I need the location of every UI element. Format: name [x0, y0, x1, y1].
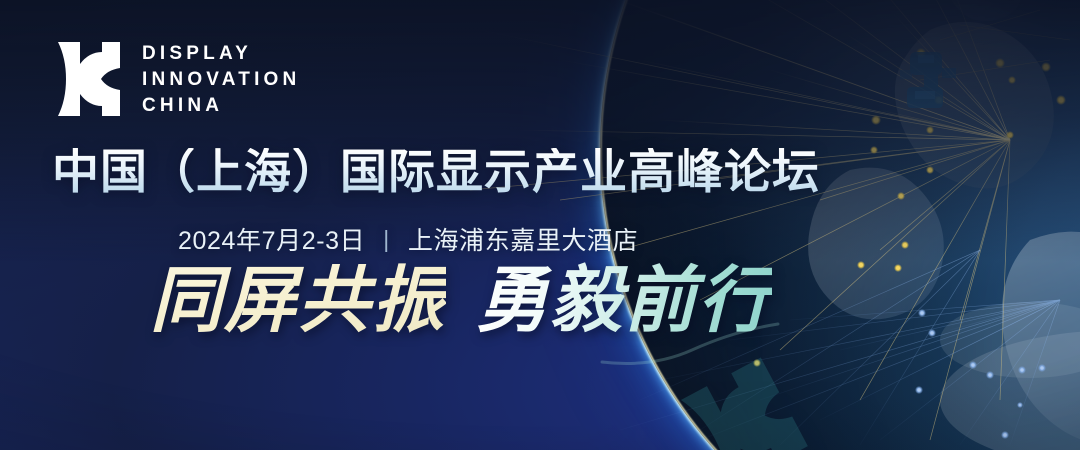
vignette-overlay: [0, 0, 1080, 450]
event-banner: DISPLAY INNOVATION CHINA 中国（上海）国际显示产业高峰论…: [0, 0, 1080, 450]
